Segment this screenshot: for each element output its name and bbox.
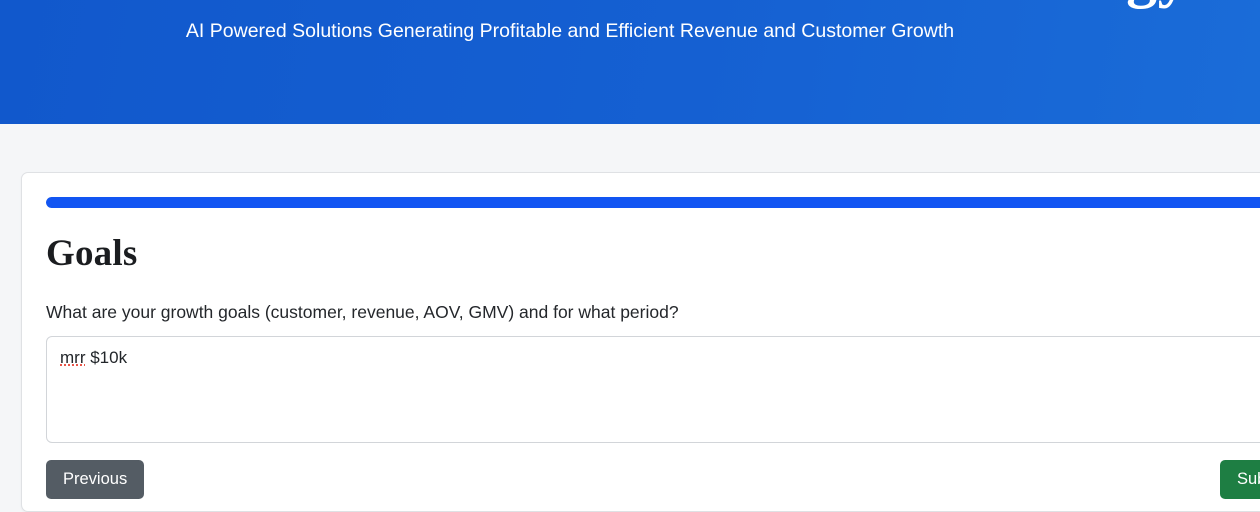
submit-button[interactable]: Submit [1220,460,1260,500]
page-body: Goals What are your growth goals (custom… [0,124,1260,502]
site-header: AI Growth Strategy AI Powered Solutions … [0,0,1260,124]
goals-answer-input[interactable]: mrr $10k [46,336,1260,443]
form-progress-fill [46,197,1260,208]
previous-button[interactable]: Previous [46,460,144,500]
page-title: Goals [46,234,1260,275]
misspelled-word: mrr [60,348,85,367]
form-progress-bar [46,197,1260,208]
goals-question-label: What are your growth goals (customer, re… [46,301,1260,323]
form-button-row: Previous Submit [46,460,1260,500]
card-content: Goals What are your growth goals (custom… [22,173,1260,500]
brand-tagline: AI Powered Solutions Generating Profitab… [0,18,1260,44]
brand-title: AI Growth Strategy [0,0,1260,6]
answer-text-rest: $10k [85,348,127,367]
goals-form-card: Goals What are your growth goals (custom… [21,172,1260,512]
